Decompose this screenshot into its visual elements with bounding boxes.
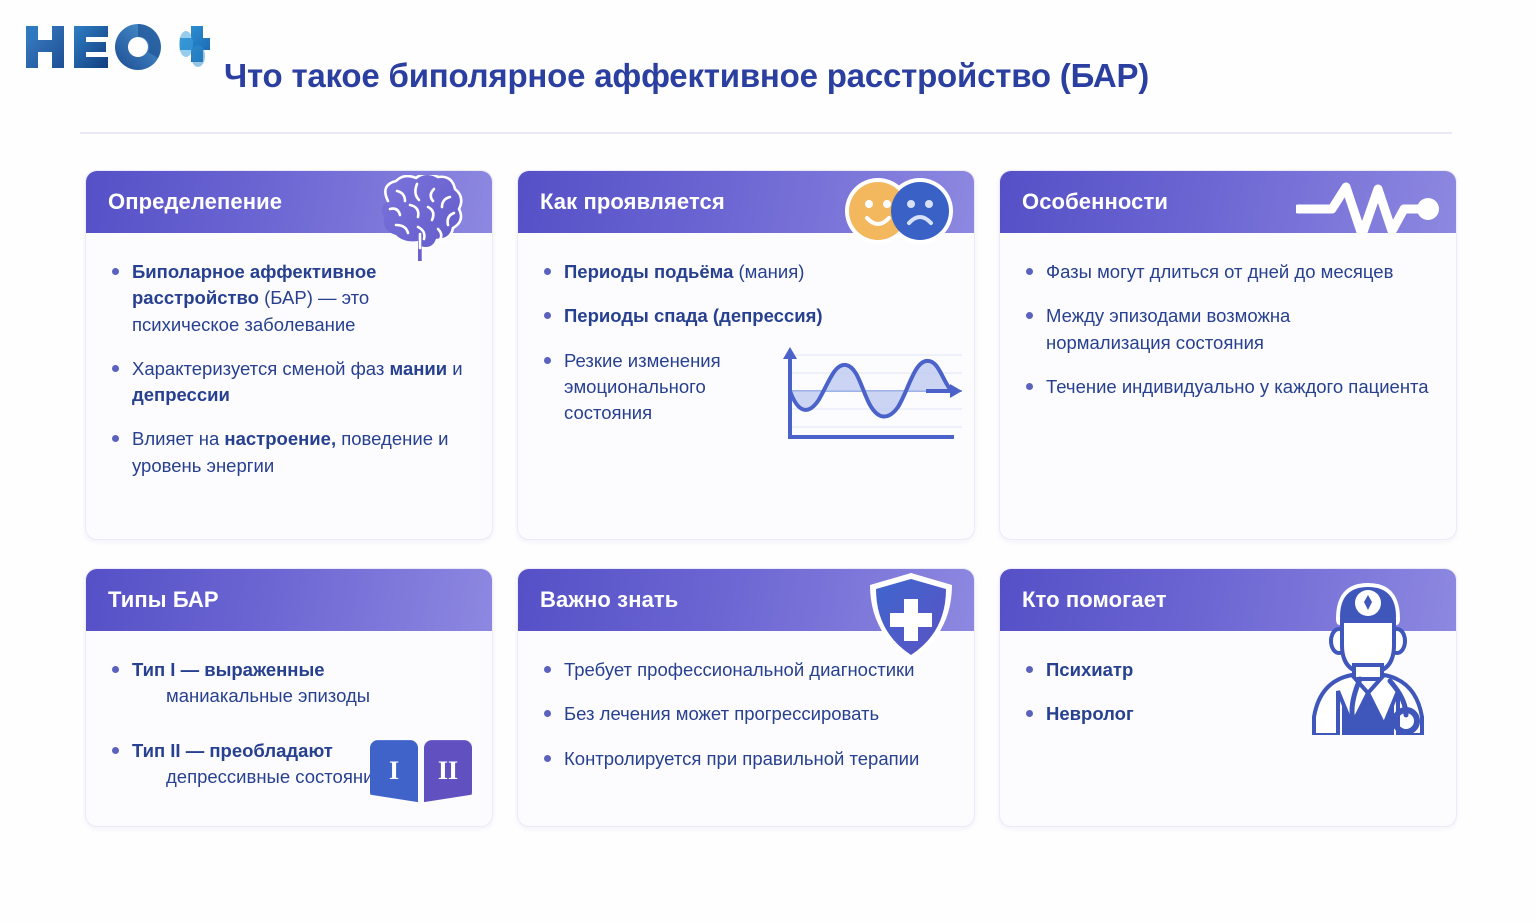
list-item: Влияет на настроение, поведение и уровен… bbox=[108, 426, 470, 479]
bullet-text: Характеризуется сменой фаз bbox=[132, 358, 390, 379]
card-title: Важно знать bbox=[540, 587, 678, 613]
list-item: Биполарное аффективное расстройство (БАР… bbox=[108, 259, 470, 338]
card-types[interactable]: Типы БАР Тип I — выраженные маниакальные… bbox=[85, 568, 493, 827]
bullet-text: Резкие изменения эмоционального состояни… bbox=[564, 350, 721, 424]
bullet-text: Контролируется при правильной терапии bbox=[564, 748, 919, 769]
card-title: Особенности bbox=[1022, 189, 1168, 215]
badge-type-1: I bbox=[370, 740, 418, 802]
bullet-bold: Психиатр bbox=[1046, 659, 1133, 680]
card-title: Типы БАР bbox=[108, 587, 219, 613]
bullet-text: Между эпизодами возможна нормализация со… bbox=[1046, 305, 1290, 352]
header-divider bbox=[80, 132, 1452, 134]
card-title: Кто помогает bbox=[1022, 587, 1167, 613]
list-item: Психиатр bbox=[1022, 657, 1434, 683]
card-header: Определепение bbox=[86, 171, 492, 233]
list-item: Характеризуется сменой фаз мании и депре… bbox=[108, 356, 470, 409]
list-item: Невролог bbox=[1022, 701, 1434, 727]
badge-type-2: II bbox=[424, 740, 472, 802]
list-item: Тип I — выраженные маниакальные эпизоды bbox=[108, 657, 470, 710]
card-title: Определепение bbox=[108, 189, 282, 215]
infographic-page: Что такое биполярное аффективное расстро… bbox=[0, 0, 1536, 922]
bullet-list: Биполарное аффективное расстройство (БАР… bbox=[108, 259, 470, 479]
card-title: Как проявляется bbox=[540, 189, 725, 215]
bullet-text: Без лечения может прогрессировать bbox=[564, 703, 879, 724]
list-item: Течение индивидуально у каждого пациента bbox=[1022, 374, 1434, 400]
bullet-bold: настроение, bbox=[224, 428, 336, 449]
card-who-helps[interactable]: Кто помогает Психиатр Невролог bbox=[999, 568, 1457, 827]
bullet-bold: Невролог bbox=[1046, 703, 1134, 724]
list-item: Фазы могут длиться от дней до месяцев bbox=[1022, 259, 1434, 285]
card-body: Тип I — выраженные маниакальные эпизоды … bbox=[86, 631, 492, 826]
list-item: Периоды подьёма (мания) bbox=[540, 259, 952, 285]
mood-swing-chart bbox=[776, 343, 964, 443]
card-definition[interactable]: Определепение bbox=[85, 170, 493, 540]
bullet-text: Течение индивидуально у каждого пациента bbox=[1046, 376, 1429, 397]
list-item: Между эпизодами возможна нормализация со… bbox=[1022, 303, 1322, 356]
card-important[interactable]: Важно знать Тре bbox=[517, 568, 975, 827]
list-item: Контролируется при правильной терапии bbox=[540, 746, 952, 772]
bullet-bold: Периоды подьёма bbox=[564, 261, 733, 282]
list-item: Периоды спада (депрессия) bbox=[540, 303, 952, 329]
bullet-bold: Тип II — преобладают bbox=[132, 740, 333, 761]
type-badges-icon: I II bbox=[370, 740, 472, 802]
bullet-bold: мании bbox=[390, 358, 448, 379]
card-header: Типы БАР bbox=[86, 569, 492, 631]
bullet-text: Требует профессиональной диагностики bbox=[564, 659, 914, 680]
card-symptoms[interactable]: Как проявляется bbox=[517, 170, 975, 540]
card-features[interactable]: Особенности Фазы могут длиться от дней д… bbox=[999, 170, 1457, 540]
card-body: Фазы могут длиться от дней до месяцев Ме… bbox=[1000, 233, 1456, 539]
card-body: Требует профессиональной диагностики Без… bbox=[518, 631, 974, 826]
bullet-text: Фазы могут длиться от дней до месяцев bbox=[1046, 261, 1393, 282]
bullet-bold: Периоды спада (депрессия) bbox=[564, 305, 823, 326]
bullet-bold: Тип I — выраженные bbox=[132, 659, 325, 680]
bullet-subtext: маниакальные эпизоды bbox=[132, 683, 470, 709]
card-body: Периоды подьёма (мания) Периоды спада (д… bbox=[518, 233, 974, 539]
list-item: Требует профессиональной диагностики bbox=[540, 657, 952, 683]
page-title: Что такое биполярное аффективное расстро… bbox=[224, 57, 1149, 95]
bullet-list: Психиатр Невролог bbox=[1022, 657, 1434, 728]
card-header: Как проявляется bbox=[518, 171, 974, 233]
bullet-text-mid: и bbox=[447, 358, 462, 379]
bullet-bold-2: депрессии bbox=[132, 384, 230, 405]
neo-plus-logo[interactable] bbox=[20, 18, 210, 80]
card-body: Психиатр Невролог bbox=[1000, 631, 1456, 826]
card-header: Особенности bbox=[1000, 171, 1456, 233]
bullet-text: (мания) bbox=[733, 261, 804, 282]
card-header: Важно знать bbox=[518, 569, 974, 631]
bullet-list: Фазы могут длиться от дней до месяцев Ме… bbox=[1022, 259, 1434, 400]
bullet-text: Влияет на bbox=[132, 428, 224, 449]
card-header: Кто помогает bbox=[1000, 569, 1456, 631]
list-item: Резкие изменения эмоционального состояни… bbox=[540, 348, 780, 427]
list-item: Без лечения может прогрессировать bbox=[540, 701, 952, 727]
card-body: Биполарное аффективное расстройство (БАР… bbox=[86, 233, 492, 539]
bullet-list: Требует профессиональной диагностики Без… bbox=[540, 657, 952, 772]
cards-grid: Определепение bbox=[85, 170, 1457, 827]
